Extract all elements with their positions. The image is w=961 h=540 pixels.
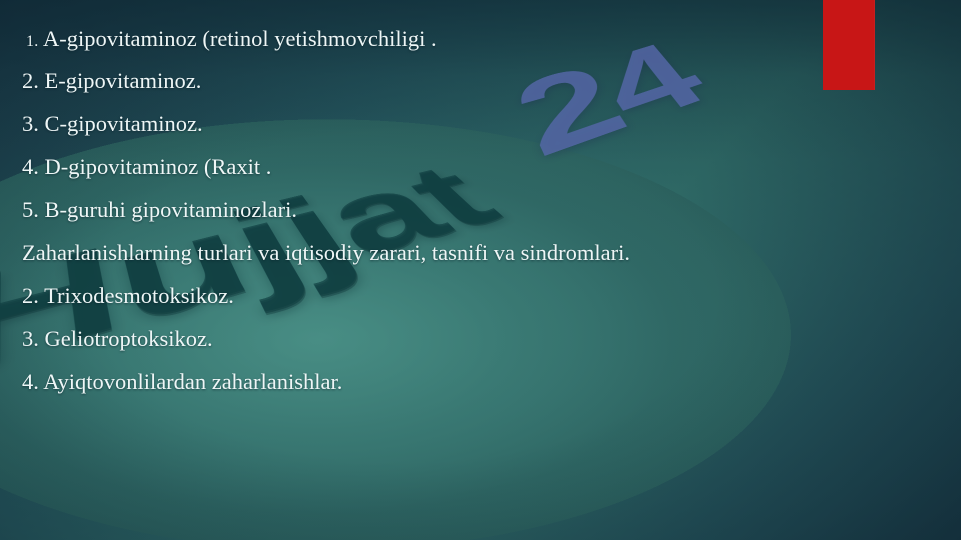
line-1-number: 1. bbox=[26, 33, 39, 50]
line-1-text: A-gipovitaminoz (retinol yetishmovchilig… bbox=[39, 26, 437, 51]
text-line-3: 3. C-gipovitaminoz. bbox=[22, 113, 203, 136]
text-line-6: Zaharlanishlarning turlari va iqtisodiy … bbox=[22, 242, 630, 265]
text-line-7: 2. Trixodesmotoksikoz. bbox=[22, 285, 234, 308]
text-line-2: 2. E-gipovitaminoz. bbox=[22, 70, 201, 93]
presentation-slide: Hujjat 24 1. A-gipovitaminoz (retinol ye… bbox=[0, 0, 961, 540]
text-line-1: 1. A-gipovitaminoz (retinol yetishmovchi… bbox=[26, 28, 437, 51]
text-line-8: 3. Geliotroptoksikoz. bbox=[22, 328, 213, 351]
text-line-5: 5. B-guruhi gipovitaminozlari. bbox=[22, 199, 297, 222]
slide-text-body: 1. A-gipovitaminoz (retinol yetishmovchi… bbox=[0, 0, 961, 540]
text-line-9: 4. Ayiqtovonlilardan zaharlanishlar. bbox=[22, 371, 342, 394]
text-line-4: 4. D-gipovitaminoz (Raxit . bbox=[22, 156, 271, 179]
